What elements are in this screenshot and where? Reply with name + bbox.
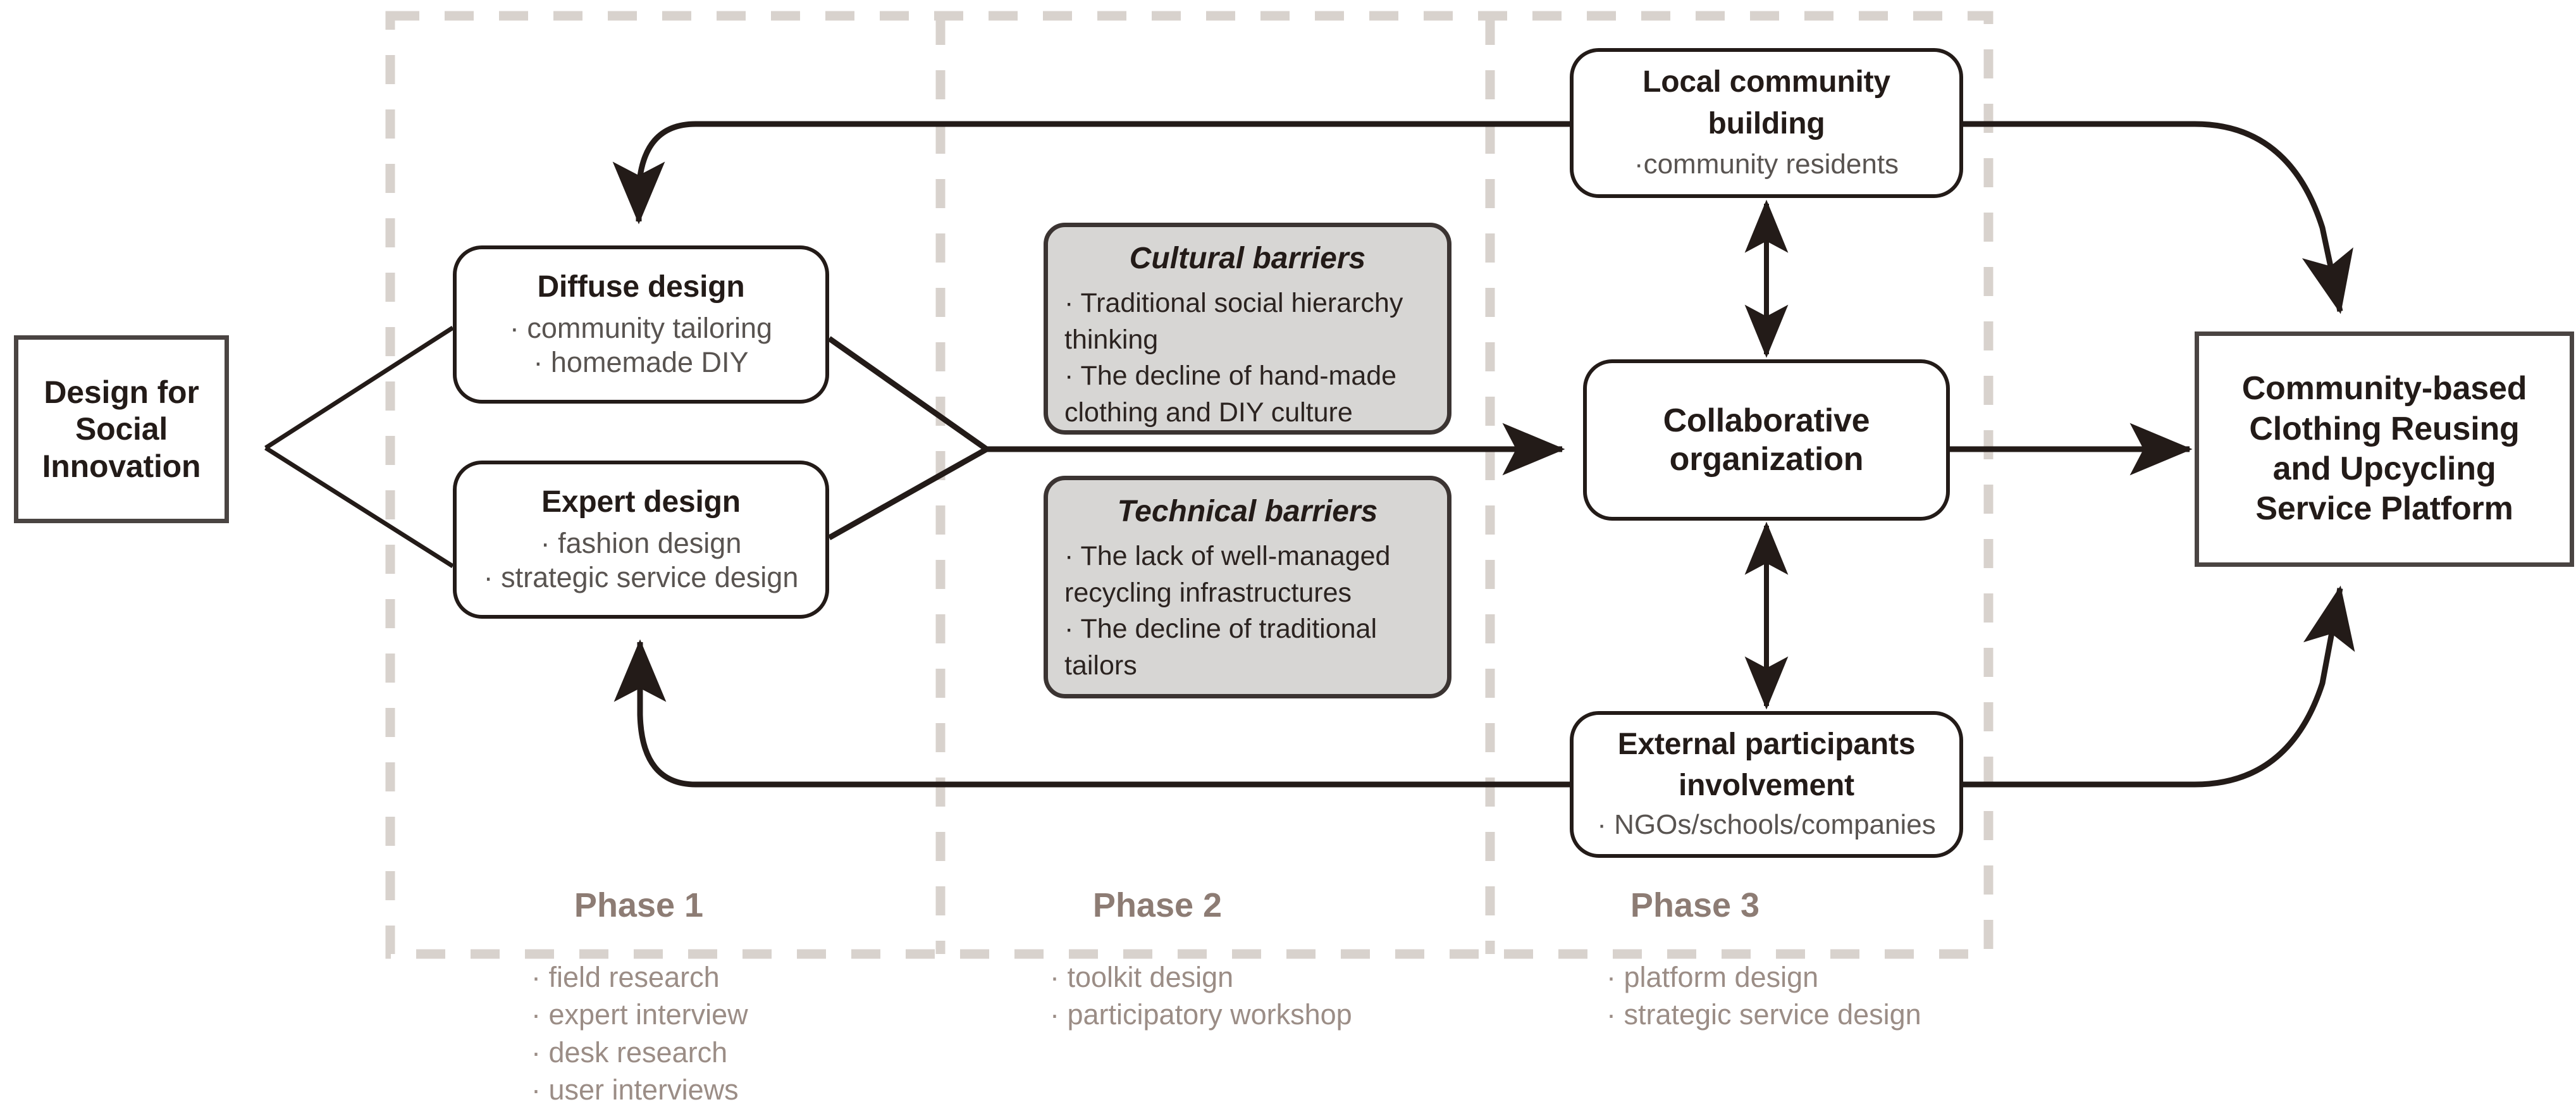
phase-2-activity-list: · toolkit design · participatory worksho… [1050,958,1352,1034]
expert-design-item-1: · fashion design [541,526,742,561]
external-title-line1: External participants [1618,727,1916,762]
output-title-line4: Service Platform [2255,489,2513,529]
phase-1-activity-item: · expert interview [531,996,748,1033]
diffuse-design-item-2: · homemade DIY [533,345,748,380]
phase-1-activity-item: · desk research [531,1034,748,1071]
external-title-line2: involvement [1679,768,1854,803]
local-community-item-1: ·community residents [1634,148,1899,182]
diagram-canvas: Design for Social Innovation Diffuse des… [0,0,2576,1098]
expert-design-title: Expert design [541,485,741,520]
expert-design-item-2: · strategic service design [484,561,799,595]
arrow-external-to-output [1963,588,2340,784]
phase-2-activity-item: · participatory workshop [1050,996,1352,1033]
output-title-line2: Clothing Reusing [2249,409,2519,449]
diffuse-design-item-1: · community tailoring [510,311,772,345]
cultural-barriers-item-2: · The decline of hand-made clothing and … [1064,358,1431,431]
root-fanout-connector [266,328,453,566]
root-box-title-line1: Design for [44,374,199,411]
technical-barriers-item-1: · The lack of well-managed recycling inf… [1064,538,1431,611]
technical-barriers-title: Technical barriers [1064,494,1431,530]
phase-3-activity-item: · platform design [1606,958,1921,996]
phase-2-label: Phase 2 [1044,886,1271,925]
cultural-barriers-item-1: · Traditional social hierarchy thinking [1064,285,1431,358]
phase-1-activity-item: · field research [531,958,748,996]
cultural-barriers-title: Cultural barriers [1064,241,1431,276]
phase-1-label: Phase 1 [525,886,753,925]
external-item-1: · NGOs/schools/companies [1597,809,1936,842]
collaborative-title-line2: organization [1670,440,1864,479]
node-expert-design[interactable]: Expert design · fashion design · strateg… [453,461,829,619]
phase-3-label: Phase 3 [1581,886,1809,925]
root-box-title-line3: Innovation [42,448,201,485]
phase-1-activity-item: · user interviews [531,1071,748,1108]
node-diffuse-design[interactable]: Diffuse design · community tailoring · h… [453,245,829,404]
node-local-community-building[interactable]: Local community building ·community resi… [1570,48,1963,198]
phase-3-activity-list: · platform design · strategic service de… [1606,958,1921,1034]
phase-1-activity-list: · field research · expert interview · de… [531,958,748,1109]
node-service-platform-output[interactable]: Community-based Clothing Reusing and Upc… [2195,331,2574,567]
collaborative-title-line1: Collaborative [1663,402,1870,440]
node-technical-barriers[interactable]: Technical barriers · The lack of well-ma… [1044,476,1451,698]
node-external-participants-involvement[interactable]: External participants involvement · NGOs… [1570,711,1963,858]
output-title-line3: and Upcycling [2273,449,2496,489]
arrow-local-community-to-output [1963,124,2340,311]
phase-3-activity-item: · strategic service design [1606,996,1921,1033]
diffuse-design-title: Diffuse design [538,270,745,305]
technical-barriers-item-2: · The decline of traditional tailors [1064,611,1431,684]
node-cultural-barriers[interactable]: Cultural barriers · Traditional social h… [1044,223,1451,435]
node-collaborative-organization[interactable]: Collaborative organization [1583,359,1950,521]
phase-2-activity-item: · toolkit design [1050,958,1352,996]
output-title-line1: Community-based [2242,369,2527,409]
node-design-for-social-innovation[interactable]: Design for Social Innovation [14,335,229,523]
local-community-title-line2: building [1708,106,1825,142]
arrow-local-community-to-diffuse [639,124,1570,221]
local-community-title-line1: Local community [1642,65,1890,100]
root-box-title-line2: Social [75,411,168,448]
design-converge-connector [829,338,987,538]
